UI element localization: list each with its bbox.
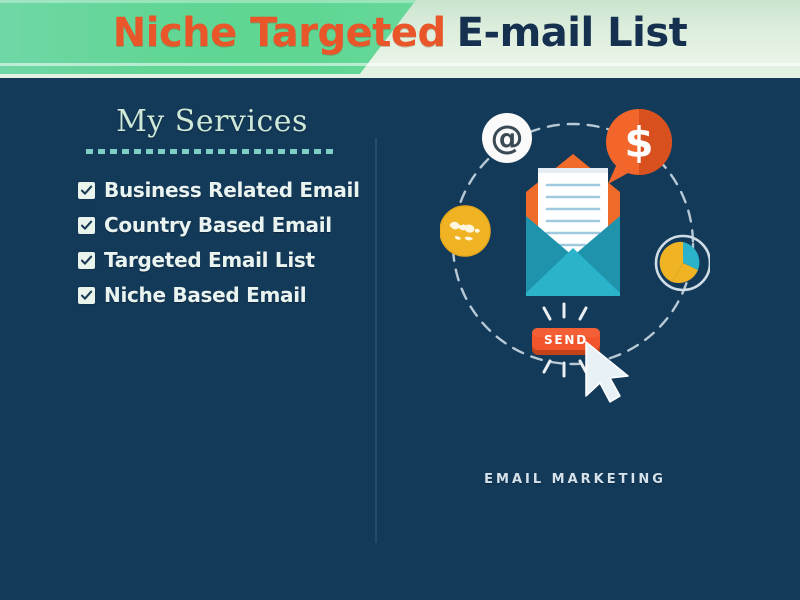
list-item-label: Business Related Email — [104, 178, 360, 202]
list-item[interactable]: Business Related Email — [78, 178, 362, 202]
list-item[interactable]: Country Based Email — [78, 213, 362, 237]
header-banner: Niche Targeted E-mail List — [0, 0, 800, 78]
globe-icon — [440, 206, 490, 256]
services-dashed-divider — [86, 149, 338, 154]
list-item-label: Country Based Email — [104, 213, 332, 237]
list-item[interactable]: Targeted Email List — [78, 248, 362, 272]
checkbox-checked-icon[interactable] — [78, 287, 95, 304]
dollar-speech-bubble-icon: $ — [606, 109, 672, 184]
list-item-label: Niche Based Email — [104, 283, 306, 307]
panel-divider — [375, 138, 377, 543]
send-button-label: SEND — [544, 333, 588, 347]
email-marketing-illustration: @ $ — [440, 96, 710, 436]
list-item[interactable]: Niche Based Email — [78, 283, 362, 307]
services-panel: My Services Business Related Email Count… — [62, 104, 362, 318]
services-list: Business Related Email Country Based Ema… — [62, 178, 362, 307]
at-sign-glyph: @ — [491, 118, 524, 157]
pie-chart-icon — [656, 236, 710, 290]
cursor-arrow-icon — [586, 342, 628, 402]
envelope-icon — [526, 154, 620, 296]
title-main-text: E-mail List — [457, 10, 688, 56]
illustration-caption: EMAIL MARKETING — [440, 472, 710, 487]
title-accent-text: Niche Targeted — [113, 10, 446, 56]
checkbox-checked-icon[interactable] — [78, 252, 95, 269]
list-item-label: Targeted Email List — [104, 248, 315, 272]
page-title: Niche Targeted E-mail List — [0, 0, 800, 66]
services-heading: My Services — [62, 104, 362, 139]
checkbox-checked-icon[interactable] — [78, 217, 95, 234]
email-marketing-banner: Niche Targeted E-mail List My Services B… — [0, 0, 800, 600]
dollar-glyph: $ — [624, 118, 653, 167]
at-sign-icon: @ — [482, 113, 532, 163]
checkbox-checked-icon[interactable] — [78, 182, 95, 199]
